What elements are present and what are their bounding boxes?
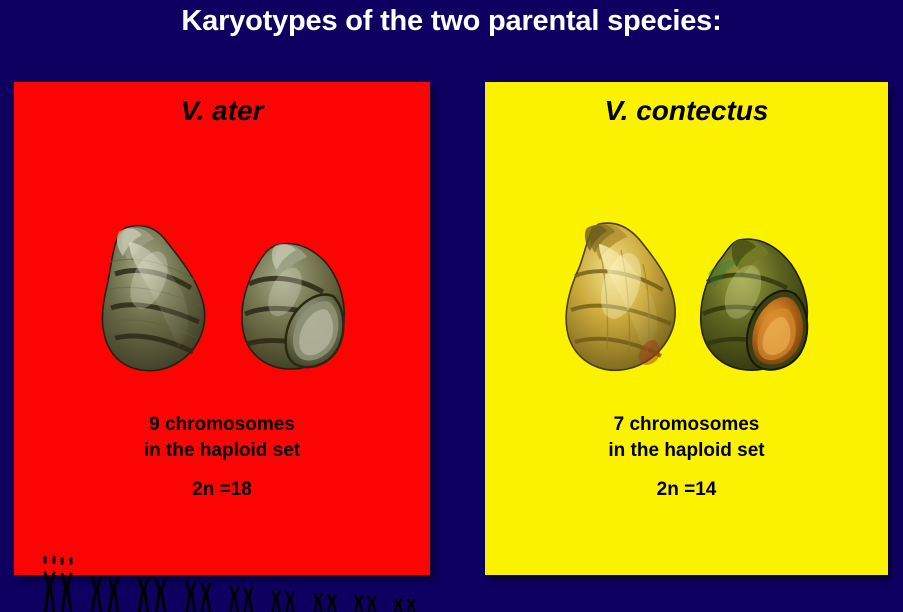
chromosome: [352, 595, 366, 612]
chromosome: [41, 556, 58, 612]
chromosome: [183, 582, 199, 612]
shell-aperture-view-contectus: [697, 236, 815, 376]
diploid-label-contectus: 2n =14: [485, 478, 888, 502]
chromosome-pair-5: [220, 586, 262, 612]
chromosome: [227, 586, 242, 612]
chromosome: [152, 579, 169, 612]
shell-aperture-view-ater: [237, 240, 349, 374]
karyotype-ater: [34, 548, 424, 612]
species-name-ater: V. ater: [14, 94, 430, 128]
chromosome: [392, 599, 405, 612]
chromosome: [58, 557, 75, 612]
shell-photos-ater: [14, 222, 430, 374]
slide-canvas: Karyotypes of the two parental species: …: [0, 0, 903, 589]
chromosome: [135, 578, 152, 612]
chromosome: [241, 587, 256, 612]
chromosome: [365, 596, 379, 612]
chromosome: [325, 594, 339, 612]
chromosome-pair-7: [304, 593, 345, 612]
chromosome-pair-2: [81, 576, 128, 612]
chromosome-pair-1: [34, 556, 81, 612]
shell-dorsal-view-contectus: [559, 220, 683, 376]
species-name-contectus: V. contectus: [485, 94, 888, 128]
chromosome-pair-4: [176, 582, 220, 612]
chromosome: [88, 576, 105, 612]
shell-photos-contectus: [485, 220, 888, 376]
chromosome-count-line1: 9 chromosomes: [149, 414, 295, 435]
chromosome: [283, 591, 297, 612]
chromosome: [269, 590, 283, 612]
chromosome-count-contectus: 7 chromosomes in the haploid set: [485, 412, 888, 464]
chromosome: [198, 583, 214, 612]
chromosome-count-line1: 7 chromosomes: [614, 414, 760, 435]
chromosome-pair-6: [263, 590, 304, 612]
chromosome-pair-3: [129, 578, 176, 612]
chromosome: [105, 577, 122, 612]
diploid-label-ater: 2n =18: [14, 478, 430, 502]
chromosome: [405, 599, 418, 612]
chromosome-count-line2: in the haploid set: [608, 440, 764, 461]
chromosome-count-ater: 9 chromosomes in the haploid set: [14, 412, 430, 464]
page-title: Karyotypes of the two parental species:: [0, 4, 903, 38]
chromosome-pair-9: [386, 599, 424, 612]
chromosome: [311, 593, 325, 612]
panel-v-contectus: V. contectus: [485, 82, 888, 575]
chromosome-count-line2: in the haploid set: [144, 440, 300, 461]
shell-dorsal-view-ater: [95, 222, 213, 374]
panel-v-ater: V. ater: [14, 82, 430, 575]
chromosome-pair-8: [345, 595, 385, 612]
